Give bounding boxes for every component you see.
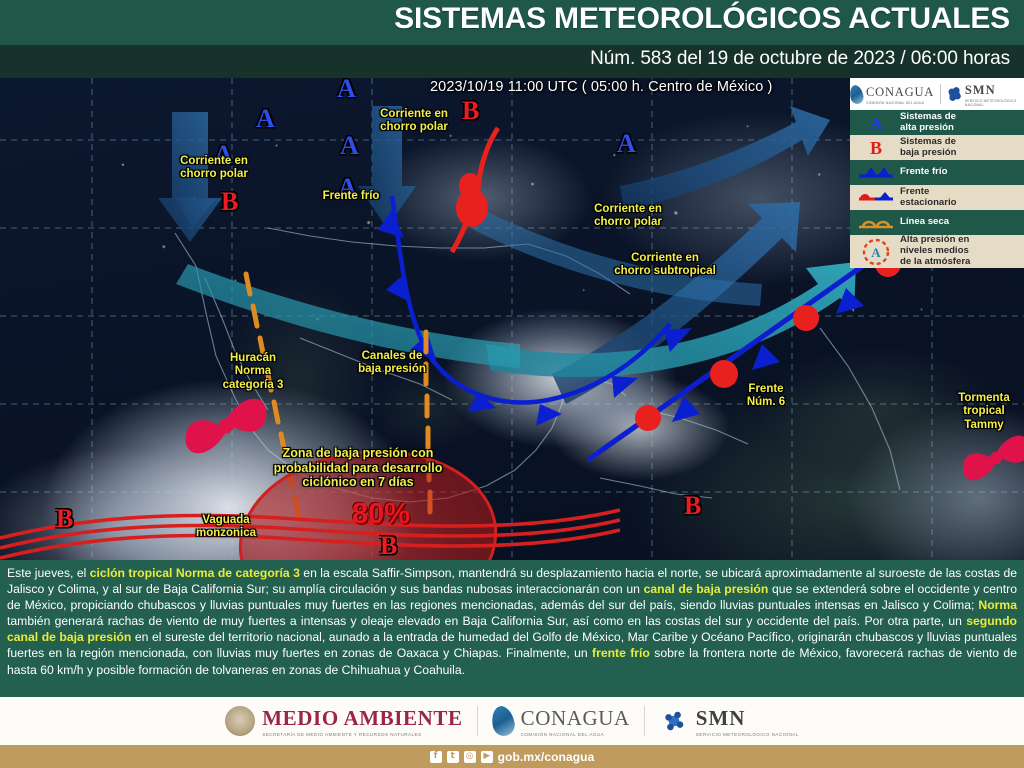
facebook-icon[interactable]: f <box>430 751 442 763</box>
brand-divider <box>940 84 941 104</box>
smn-wordmark: SMN <box>965 83 996 97</box>
forecast-description: Este jueves, el ciclón tropical Norma de… <box>0 560 1024 697</box>
infographic-page: SISTEMAS METEOROLÓGICOS ACTUALES Núm. 58… <box>0 0 1024 768</box>
low-pressure-marker-b-pacific-west: B <box>56 506 73 532</box>
legend-item-dry-line[interactable]: Línea seca <box>850 210 1024 235</box>
high-pressure-marker-a-east: A <box>617 131 636 157</box>
description-highlight: canal de baja presión <box>644 582 769 596</box>
high-pressure-marker-a-nc: A <box>340 133 359 159</box>
low-pressure-marker-b-pacific-mid: B <box>380 533 397 559</box>
medio-ambiente-subtitle: SECRETARÍA DE MEDIO AMBIENTE Y RECURSOS … <box>262 732 462 737</box>
legend-item-low-pressure[interactable]: B Sistemas de baja presión <box>850 135 1024 160</box>
low-pressure-marker-b-caribbean: B <box>684 493 701 519</box>
footer-logos: MEDIO AMBIENTE SECRETARÍA DE MEDIO AMBIE… <box>0 697 1024 745</box>
conagua-subtitle-footer: COMISIÓN NACIONAL DEL AGUA <box>521 732 630 737</box>
map-timestamp: 2023/10/19 11:00 UTC ( 05:00 h. Centro d… <box>430 79 772 95</box>
youtube-icon[interactable]: ▶ <box>481 751 493 763</box>
legend-label-mid-level-high: Alta presión en niveles medios de la atm… <box>900 235 973 267</box>
high-pressure-a-icon: A <box>852 114 900 132</box>
high-pressure-marker-a-top: A <box>337 78 356 102</box>
hurricane-symbol-norma[interactable] <box>186 399 267 454</box>
conagua-wordmark-footer: CONAGUA <box>521 706 630 730</box>
conagua-wordmark: CONAGUA <box>866 85 934 99</box>
map-legend: A Sistemas de alta presión B Sistemas de… <box>850 110 1024 268</box>
conagua-subtitle: COMISIÓN NACIONAL DEL AGUA <box>866 101 934 105</box>
legend-label-high-pressure: Sistemas de alta presión <box>900 112 959 133</box>
dry-line-glyph <box>857 215 895 231</box>
mid-level-high-icon: A <box>852 237 900 267</box>
footer-divider-2 <box>644 706 645 736</box>
high-pressure-marker-a-central: A <box>338 175 357 201</box>
medio-ambiente-wordmark: MEDIO AMBIENTE <box>262 706 462 730</box>
smn-wordmark-footer: SMN <box>696 706 746 730</box>
legend-item-stationary-front[interactable]: Frente estacionario <box>850 185 1024 210</box>
legend-label-cold-front: Frente frío <box>900 167 950 178</box>
legend-item-mid-level-high[interactable]: A Alta presión en niveles medios de la a… <box>850 235 1024 268</box>
low-pressure-b-icon: B <box>852 139 900 157</box>
description-highlight: frente frío <box>592 646 650 660</box>
legend-glyph-b: B <box>870 139 882 157</box>
stationary-front-icon <box>852 190 900 206</box>
legend-item-high-pressure[interactable]: A Sistemas de alta presión <box>850 110 1024 135</box>
water-drop-icon-footer <box>489 704 517 738</box>
description-paragraph: Este jueves, el ciclón tropical Norma de… <box>7 565 1017 678</box>
smn-subtitle: SERVICIO METEOROLÓGICO NACIONAL <box>965 99 1024 107</box>
brand-strip-top: CONAGUA COMISIÓN NACIONAL DEL AGUA SMN S… <box>850 78 1024 110</box>
description-highlight: ciclón tropical Norma de categoría 3 <box>90 566 300 580</box>
instagram-icon[interactable]: ◎ <box>464 751 476 763</box>
stationary-front-glyph <box>857 190 895 206</box>
legend-label-low-pressure: Sistemas de baja presión <box>900 137 960 158</box>
smn-logo-top: SMN SERVICIO METEOROLÓGICO NACIONAL <box>947 81 1024 107</box>
hurricane-symbol-tammy[interactable] <box>963 436 1024 481</box>
legend-label-dry-line: Línea seca <box>900 217 952 228</box>
jet-stream-polar-west <box>158 112 222 242</box>
jet-stream-polar-band-north <box>470 210 762 306</box>
high-pressure-marker-a-n: A <box>256 106 275 132</box>
low-pressure-marker-b-baja: B <box>221 189 238 215</box>
smn-subtitle-footer: SERVICIO METEOROLÓGICO NACIONAL <box>696 732 799 737</box>
satellite-map[interactable]: 2023/10/19 11:00 UTC ( 05:00 h. Centro d… <box>0 78 1024 560</box>
footer-divider-1 <box>477 706 478 736</box>
conagua-logo-footer: CONAGUA COMISIÓN NACIONAL DEL AGUA <box>492 706 630 737</box>
high-pressure-marker-a-nw: A <box>214 142 233 168</box>
smn-logo-footer: SMN SERVICIO METEOROLÓGICO NACIONAL <box>659 706 799 737</box>
footer-url-bar: f t ◎ ▶ gob.mx/conagua <box>0 745 1024 768</box>
smn-icon-footer <box>659 706 689 736</box>
probability-80-percent: 80% <box>352 500 410 529</box>
svg-text:A: A <box>871 245 881 260</box>
mid-level-high-glyph: A <box>861 237 891 267</box>
dry-line-icon <box>852 215 900 231</box>
legend-glyph-a: A <box>870 114 883 132</box>
website-url[interactable]: gob.mx/conagua <box>498 750 595 764</box>
cold-front-usa[interactable] <box>378 196 692 426</box>
smn-icon <box>947 85 962 103</box>
conagua-logo-top: CONAGUA COMISIÓN NACIONAL DEL AGUA <box>850 83 934 105</box>
bulletin-number-date: Núm. 583 del 19 de octubre de 2023 / 06:… <box>590 48 1010 70</box>
medio-ambiente-logo: MEDIO AMBIENTE SECRETARÍA DE MEDIO AMBIE… <box>225 706 462 737</box>
jet-stream-subtropical <box>176 262 856 377</box>
page-title: SISTEMAS METEOROLÓGICOS ACTUALES <box>394 2 1010 36</box>
description-highlight: Norma <box>978 598 1017 612</box>
water-drop-icon <box>848 83 865 104</box>
jet-stream-polar-northcentral <box>358 106 416 228</box>
low-pressure-marker-b-north: B <box>462 98 479 124</box>
description-text: Este jueves, el <box>7 566 90 580</box>
twitter-icon[interactable]: t <box>447 751 459 763</box>
national-seal-icon <box>225 706 255 736</box>
legend-label-stationary-front: Frente estacionario <box>900 187 960 208</box>
legend-item-cold-front[interactable]: Frente frío <box>850 160 1024 185</box>
cold-front-glyph <box>857 165 895 181</box>
description-text: también generará rachas de viento de muy… <box>7 614 966 628</box>
cold-front-icon <box>852 165 900 181</box>
